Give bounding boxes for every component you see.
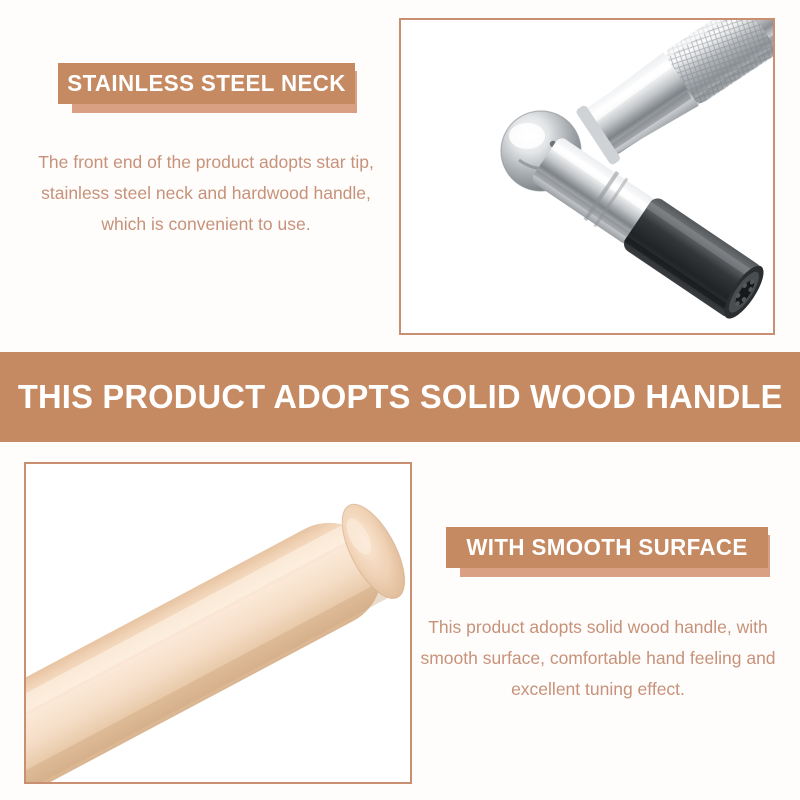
badge-label: STAINLESS STEEL NECK <box>67 70 345 97</box>
main-banner: THIS PRODUCT ADOPTS SOLID WOOD HANDLE <box>0 352 800 442</box>
tuning-wrench-illustration <box>401 20 773 333</box>
photo-inner-dowel <box>26 464 410 782</box>
wood-dowel-illustration <box>26 464 410 782</box>
product-photo-tuning-wrench <box>399 18 775 335</box>
badge-box: WITH SMOOTH SURFACE <box>446 527 768 568</box>
product-infographic: STAINLESS STEEL NECK The front end of th… <box>0 0 800 800</box>
badge-box: STAINLESS STEEL NECK <box>58 63 355 104</box>
section-body-with-smooth-surface: This product adopts solid wood handle, w… <box>412 612 784 705</box>
section-body-stainless-steel-neck: The front end of the product adopts star… <box>22 147 390 240</box>
photo-inner-wrench <box>401 20 773 333</box>
main-banner-text: THIS PRODUCT ADOPTS SOLID WOOD HANDLE <box>18 378 783 416</box>
badge-label: WITH SMOOTH SURFACE <box>466 534 747 561</box>
product-photo-wood-handle <box>24 462 412 784</box>
section-heading-badge-with-smooth-surface: WITH SMOOTH SURFACE <box>446 527 768 568</box>
section-heading-badge-stainless-steel-neck: STAINLESS STEEL NECK <box>58 63 355 104</box>
